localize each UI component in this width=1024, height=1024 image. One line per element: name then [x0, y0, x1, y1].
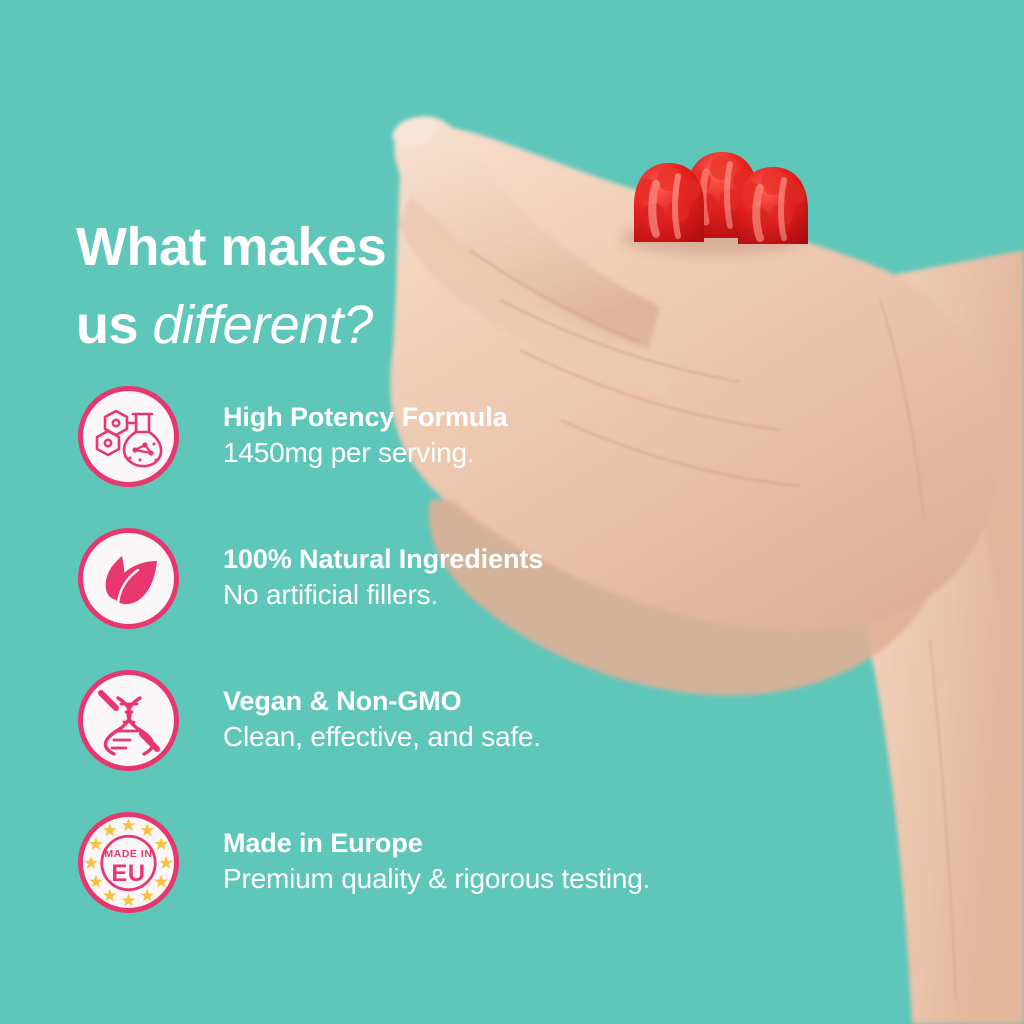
feature-title: High Potency Formula [223, 400, 508, 434]
feature-title: 100% Natural Ingredients [223, 542, 543, 576]
feature-title: Made in Europe [223, 826, 650, 860]
feature-text: 100% Natural Ingredients No artificial f… [223, 528, 543, 614]
feature-text: Made in Europe Premium quality & rigorou… [223, 812, 650, 898]
no-gmo-dna-icon [78, 670, 179, 771]
feature-row: MADE IN EU Made in Europe Premium qualit… [78, 812, 878, 954]
page-title: What makes us different? [76, 208, 546, 364]
feature-subtitle: Premium quality & rigorous testing. [223, 860, 650, 898]
gummy-center [686, 152, 759, 238]
natural-leaf-icon [78, 528, 179, 629]
feature-title: Vegan & Non-GMO [223, 684, 541, 718]
feature-text: Vegan & Non-GMO Clean, effective, and sa… [223, 670, 541, 756]
feature-subtitle: No artificial fillers. [223, 576, 543, 614]
eu-badge-top-text: MADE IN [105, 849, 153, 860]
headline-line-1: What makes [76, 208, 546, 286]
headline-italic-word: different? [153, 295, 373, 355]
feature-text: High Potency Formula 1450mg per serving. [223, 386, 508, 472]
feature-list: High Potency Formula 1450mg per serving.… [78, 386, 878, 954]
headline-line-2: us different? [76, 286, 546, 364]
feature-row: High Potency Formula 1450mg per serving. [78, 386, 878, 528]
eu-badge-main-text: EU [112, 860, 146, 886]
promo-poster: What makes us different? [0, 0, 1024, 1024]
feature-subtitle: 1450mg per serving. [223, 434, 508, 472]
feature-row: 100% Natural Ingredients No artificial f… [78, 528, 878, 670]
made-in-eu-badge-icon: MADE IN EU [78, 812, 179, 913]
feature-row: Vegan & Non-GMO Clean, effective, and sa… [78, 670, 878, 812]
feature-subtitle: Clean, effective, and safe. [223, 718, 541, 756]
gummy-right [738, 167, 808, 244]
gummy-left [634, 163, 704, 242]
headline-bold-word: us [76, 295, 138, 355]
chemistry-flask-icon [78, 386, 179, 487]
